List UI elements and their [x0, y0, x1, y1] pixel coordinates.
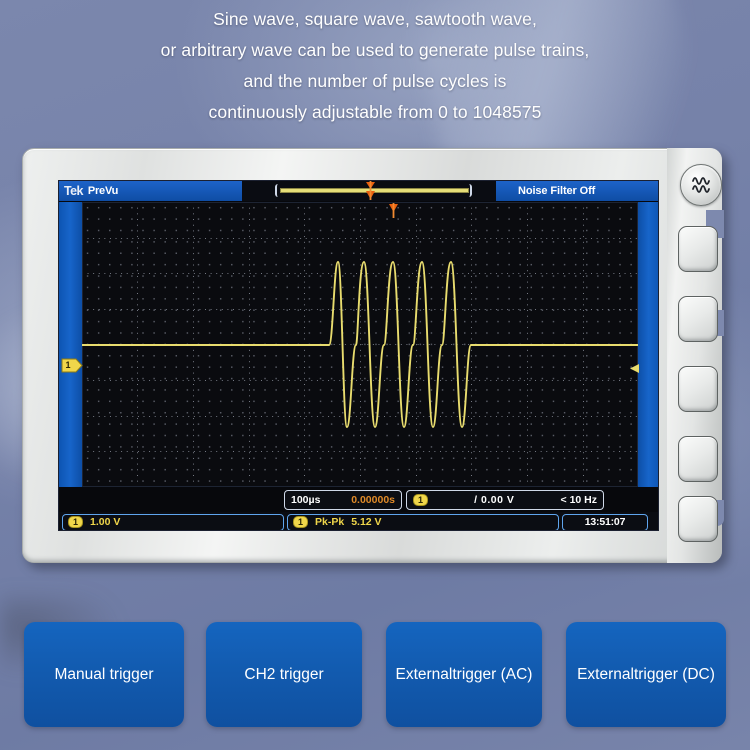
time-per-div-value: 100µs — [291, 494, 320, 506]
bezel-button-3[interactable] — [678, 366, 718, 412]
horizontal-readout[interactable]: 100µs 0.00000s — [284, 490, 402, 510]
channel1-pill: 1 — [68, 516, 83, 528]
pkpk-measurement-readout[interactable]: 1 Pk-Pk 5.12 V — [287, 514, 559, 531]
trigger-position-marker-icon — [365, 181, 376, 200]
measurement-name: Pk-Pk — [315, 516, 344, 528]
channel1-marker-number: 1 — [63, 360, 73, 371]
waveform-end-arrow-icon — [627, 363, 640, 374]
caption-line-3: and the number of pulse cycles is — [0, 66, 750, 97]
channel1-volts-per-div: 1.00 V — [90, 516, 120, 528]
caption-block: Sine wave, square wave, sawtooth wave, o… — [0, 0, 750, 148]
trigger-option-buttons: Manual trigger CH2 trigger Externaltrigg… — [0, 622, 750, 737]
clock-value: 13:51:07 — [585, 516, 625, 528]
measurement-value: 5.12 V — [351, 516, 381, 528]
trigger-level-marker-icon — [388, 203, 399, 218]
readout-row: 100µs 0.00000s 1 / 0.00 V < 10 Hz — [284, 490, 638, 510]
prevu-label: PreVu — [88, 185, 118, 197]
caption-line-1: Sine wave, square wave, sawtooth wave, — [0, 4, 750, 35]
measurement-channel-pill: 1 — [293, 516, 308, 528]
noise-filter-label: Noise Filter Off — [518, 185, 595, 197]
graticule — [82, 202, 638, 487]
horizontal-position-value: 0.00000s — [351, 494, 395, 506]
status-strip-top: Tek PreVu Noise Filter Off — [59, 181, 658, 201]
tek-logo: Tek — [64, 184, 83, 198]
ch2-trigger-button[interactable]: CH2 trigger — [206, 622, 362, 727]
oscilloscope-device: Tek PreVu Noise Filter Off — [22, 148, 728, 569]
caption-line-2: or arbitrary wave can be used to generat… — [0, 35, 750, 66]
caption-line-4: continuously adjustable from 0 to 104857… — [0, 97, 750, 128]
screen-rail-left — [59, 202, 82, 487]
graticule-major-lines — [82, 202, 638, 487]
clock-readout: 13:51:07 — [562, 514, 648, 531]
utility-knob[interactable] — [680, 164, 722, 206]
trigger-readout[interactable]: 1 / 0.00 V < 10 Hz — [406, 490, 604, 510]
trigger-source-pill: 1 — [413, 494, 428, 506]
bezel-button-5[interactable] — [678, 496, 718, 542]
bezel-button-4[interactable] — [678, 436, 718, 482]
trigger-frequency-value: < 10 Hz — [561, 494, 597, 506]
external-trigger-ac-button[interactable]: Externaltrigger (AC) — [386, 622, 542, 727]
manual-trigger-button[interactable]: Manual trigger — [24, 622, 184, 727]
screen-bezel: Tek PreVu Noise Filter Off — [58, 180, 659, 531]
waveform-knob-icon[interactable] — [680, 164, 722, 206]
external-trigger-dc-button[interactable]: Externaltrigger (DC) — [566, 622, 726, 727]
channel1-scale-readout[interactable]: 1 1.00 V — [62, 514, 284, 531]
status-strip-right: Noise Filter Off — [496, 181, 658, 201]
measurement-bar: 1 1.00 V 1 Pk-Pk 5.12 V 13:51:07 — [59, 512, 658, 530]
scope-screen: Tek PreVu Noise Filter Off — [59, 181, 658, 530]
trigger-level-value: / 0.00 V — [474, 494, 514, 506]
bezel-button-2[interactable] — [678, 296, 718, 342]
screen-rail-right — [638, 202, 658, 487]
bezel-button-1[interactable] — [678, 226, 718, 272]
status-strip-left: Tek PreVu — [59, 181, 242, 201]
